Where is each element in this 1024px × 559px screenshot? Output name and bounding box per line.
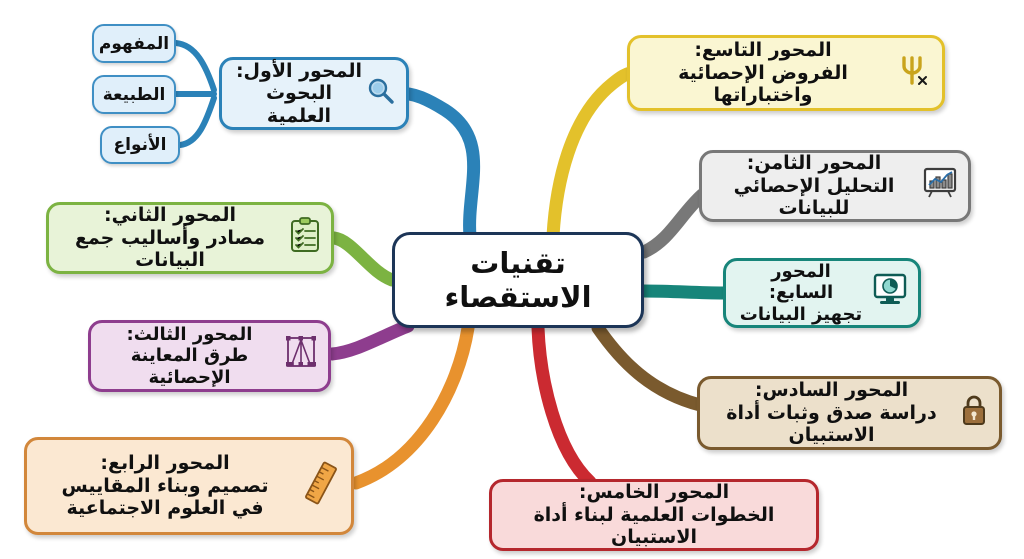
sub-node-mafhoom-label: المفهوم [99,34,169,54]
connector-axis4 [356,328,468,483]
branch-axis3-line2: طرق المعاينة الإحصائية [101,345,278,387]
central-topic-label: تقنيات الاستقصاء [405,246,631,314]
padlock-icon [959,392,989,433]
branch-axis4-line2: تصميم وبناء المقاييس [37,475,293,497]
connector-axis2 [334,238,392,280]
sub-node-anwaa-label: الأنواع [114,135,167,155]
branch-axis7[interactable]: المحور السابع: تجهيز البيانات [723,258,921,328]
connector-axis5 [538,328,590,482]
branch-axis5-line1: المحور الخامس: [502,481,806,503]
branch-axis4[interactable]: المحور الرابع: تصميم وبناء المقاييس في ا… [24,437,354,535]
branch-axis6-line2: دراسة صدق وثبات أداة الاستبيان [710,402,953,447]
branch-axis3-line1: المحور الثالث: [101,324,278,345]
connector-axis6 [598,328,700,405]
sub-node-tabiaa[interactable]: الطبيعة [92,75,176,114]
branch-axis1-line1: المحور الأول: [232,60,366,82]
branch-axis3[interactable]: المحور الثالث: طرق المعاينة الإحصائية [88,320,331,392]
magnifier-icon [366,76,396,111]
connector-sub1 [176,43,214,90]
monitor-piechart-icon [872,273,908,312]
ruler-icon [301,460,341,511]
sub-node-tabiaa-label: الطبيعة [103,85,166,105]
branch-axis7-line2: تجهيز البيانات [736,304,866,325]
branch-axis4-line3: في العلوم الاجتماعية [37,497,293,519]
connector-axis3 [332,326,408,354]
branch-axis2[interactable]: المحور الثاني: مصادر وأساليب جمع البيانا… [46,202,334,274]
sampling-network-icon [284,335,318,376]
psi-symbol-icon [892,50,932,95]
branch-axis8-line1: المحور الثامن: [712,152,916,174]
clipboard-checklist-icon [289,217,321,258]
sub-node-anwaa[interactable]: الأنواع [100,126,180,164]
branch-axis5-line2: الخطوات العلمية لبناء أداة الاستبيان [502,504,806,549]
branch-axis9[interactable]: المحور التاسع: الفروض الإحصائية واختبارا… [627,35,945,111]
branch-axis6-line1: المحور السادس: [710,379,953,401]
branch-axis2-line1: المحور الثاني: [59,204,281,226]
connector-sub3 [180,98,214,145]
branch-axis1[interactable]: المحور الأول: البحوث العلمية [219,57,409,130]
branch-axis2-line2: مصادر وأساليب جمع البيانات [59,227,281,272]
sub-node-mafhoom[interactable]: المفهوم [92,24,176,63]
branch-axis5[interactable]: المحور الخامس: الخطوات العلمية لبناء أدا… [489,479,819,551]
branch-axis1-line2: البحوث العلمية [232,82,366,127]
connector-axis1 [409,94,474,236]
branch-axis8[interactable]: المحور الثامن: التحليل الإحصائي للبيانات [699,150,971,222]
connector-axis8 [644,195,702,252]
branch-axis7-line1: المحور السابع: [736,261,866,303]
branch-axis9-line2: الفروض الإحصائية واختباراتها [640,62,886,107]
branch-axis6[interactable]: المحور السادس: دراسة صدق وثبات أداة الاس… [697,376,1002,450]
branch-axis8-line2: التحليل الإحصائي للبيانات [712,175,916,220]
mindmap-canvas: تقنيات الاستقصاء المحور الأول: البحوث ال… [0,0,1024,559]
branch-axis9-line1: المحور التاسع: [640,39,886,61]
branch-axis4-line1: المحور الرابع: [37,452,293,474]
connector-axis9 [553,73,630,236]
connector-axis7 [644,291,724,293]
central-topic[interactable]: تقنيات الاستقصاء [392,232,644,328]
bar-chart-icon [922,166,958,205]
